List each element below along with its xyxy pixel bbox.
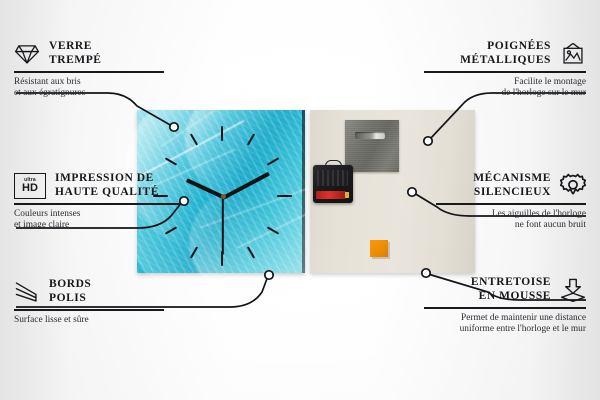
feature-mecanisme-silencieux: MÉCANISME SILENCIEUX Les aiguilles de l'… [436, 172, 586, 232]
feature-header: MÉCANISME SILENCIEUX [436, 172, 586, 199]
diamond-icon [14, 41, 40, 67]
feature-title: BORDS POLIS [49, 278, 91, 305]
feature-description: Couleurs intenses et image claire [14, 209, 180, 232]
product-infographic: VERRE TREMPÉ Résistant aux bris et aux é… [0, 0, 600, 400]
divider [14, 203, 180, 205]
hanging-frame-icon [560, 41, 586, 67]
divider [14, 309, 164, 311]
clock-tick [221, 126, 223, 141]
mechanism-hook [325, 160, 342, 168]
battery [316, 191, 346, 199]
feature-description: Facilite le montage de l'horloge sur le … [424, 77, 586, 100]
feature-entretoise-en-mousse: ENTRETOISE EN MOUSSE Permet de maintenir… [424, 276, 586, 336]
feature-poignees-metalliques: POIGNÉES MÉTALLIQUES Facilite le montage… [424, 40, 586, 100]
feature-header: ENTRETOISE EN MOUSSE [424, 276, 586, 303]
foam-spacer [370, 240, 388, 257]
ultra-hd-icon: ultra HD [14, 173, 46, 199]
second-hand [222, 197, 224, 255]
clock-hand-hub [221, 194, 226, 199]
hanger-slot [355, 132, 385, 139]
arrow-down-pad-icon [560, 277, 586, 303]
feature-title: VERRE TREMPÉ [49, 40, 102, 67]
feature-description: Surface lisse et sûre [14, 315, 164, 327]
feature-title: IMPRESSION DE HAUTE QUALITÉ [55, 172, 159, 199]
feature-header: VERRE TREMPÉ [14, 40, 164, 67]
feature-title: MÉCANISME SILENCIEUX [473, 172, 551, 199]
product-image [137, 110, 475, 273]
clock-tick [277, 195, 292, 197]
ultra-hd-icon-main: HD [22, 183, 38, 194]
divider [14, 71, 164, 73]
mechanism-body [317, 170, 348, 186]
feature-verre-trempe: VERRE TREMPÉ Résistant aux bris et aux é… [14, 40, 164, 100]
feature-description: Permet de maintenir une distance uniform… [424, 313, 586, 336]
feature-header: POIGNÉES MÉTALLIQUES [424, 40, 586, 67]
feature-impression-haute-qualite: ultra HD IMPRESSION DE HAUTE QUALITÉ Cou… [14, 172, 180, 232]
feature-description: Résistant aux bris et aux égratignures [14, 77, 164, 100]
divider [436, 203, 586, 205]
feature-bords-polis: BORDS POLIS Surface lisse et sûre [14, 278, 164, 326]
feature-header: BORDS POLIS [14, 278, 164, 305]
divider [424, 307, 586, 309]
feature-description: Les aiguilles de l'horloge ne font aucun… [436, 209, 586, 232]
feature-title: POIGNÉES MÉTALLIQUES [460, 40, 551, 67]
polished-edges-icon [14, 279, 40, 305]
gear-icon [560, 173, 586, 199]
feature-header: ultra HD IMPRESSION DE HAUTE QUALITÉ [14, 172, 180, 199]
feature-title: ENTRETOISE EN MOUSSE [471, 276, 551, 303]
divider [424, 71, 586, 73]
metal-hanger-plate [345, 120, 399, 172]
clock-mechanism [313, 165, 353, 203]
